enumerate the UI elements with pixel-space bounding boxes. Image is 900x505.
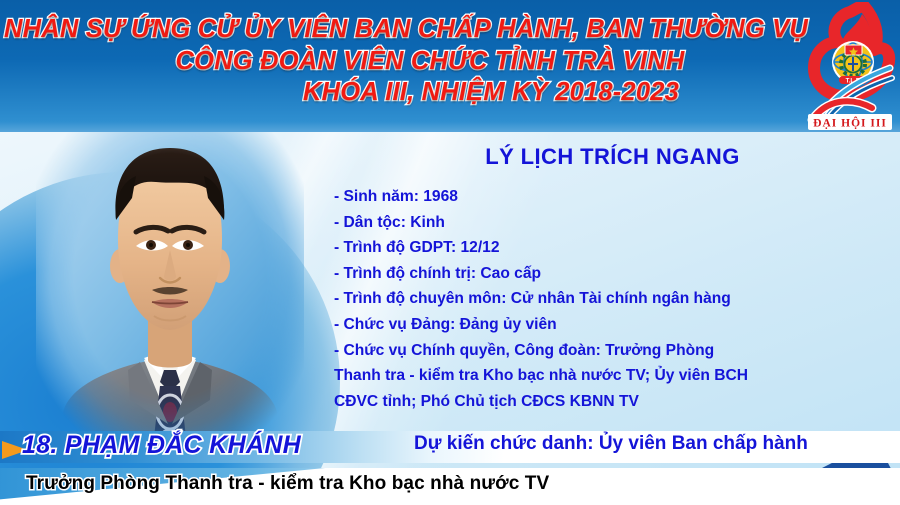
- candidate-name: 18. PHẠM ĐẮC KHÁNH: [22, 431, 301, 460]
- profile-section-title: LÝ LỊCH TRÍCH NGANG: [340, 144, 885, 170]
- profile-field-birth-year: - Sinh năm: 1968: [334, 184, 894, 210]
- candidate-profile-card: NHÂN SỰ ỨNG CỬ ỦY VIÊN BAN CHẤP HÀNH, BA…: [0, 0, 900, 505]
- profile-field-list: - Sinh năm: 1968 - Dân tộc: Kinh - Trình…: [334, 184, 894, 414]
- header-title-group: NHÂN SỰ ỨNG CỬ ỦY VIÊN BAN CHẤP HÀNH, BA…: [0, 14, 812, 109]
- position-bar: Trưởng Phòng Thanh tra - kiểm tra Kho bạ…: [0, 468, 900, 505]
- profile-field-education-level: - Trình độ GDPT: 12/12: [334, 235, 894, 261]
- header-title-line-3: KHÓA III, NHIỆM KỲ 2018-2023: [0, 77, 812, 109]
- header-title-line-1: NHÂN SỰ ỨNG CỬ ỦY VIÊN BAN CHẤP HÀNH, BA…: [0, 14, 812, 46]
- profile-field-political-theory: - Trình độ chính trị: Cao cấp: [334, 261, 894, 287]
- header-title-line-2: CÔNG ĐOÀN VIÊN CHỨC TỈNH TRÀ VINH: [0, 46, 812, 78]
- profile-field-government-union-position: - Chức vụ Chính quyền, Công đoàn: Trưởng…: [334, 338, 894, 415]
- profile-field-professional: - Trình độ chuyên môn: Cử nhân Tài chính…: [334, 286, 894, 312]
- expected-role-text: Dự kiến chức danh: Ủy viên Ban chấp hành: [414, 433, 808, 455]
- candidate-name-bar: 18. PHẠM ĐẮC KHÁNH Dự kiến chức danh: Ủy…: [0, 425, 900, 469]
- profile-field-ethnicity: - Dân tộc: Kinh: [334, 210, 894, 236]
- candidate-photo: [36, 132, 304, 454]
- header-banner: NHÂN SỰ ỨNG CỬ ỦY VIÊN BAN CHẤP HÀNH, BA…: [0, 0, 900, 132]
- profile-field-party-position: - Chức vụ Đảng: Đảng ủy viên: [334, 312, 894, 338]
- candidate-position: Trưởng Phòng Thanh tra - kiểm tra Kho bạ…: [26, 473, 549, 495]
- congress-logo-icon: T.L.Đ ĐẠI HỘI III: [802, 2, 896, 132]
- logo-caption-label: ĐẠI HỘI III: [813, 116, 887, 130]
- portrait-illustration: [36, 132, 304, 454]
